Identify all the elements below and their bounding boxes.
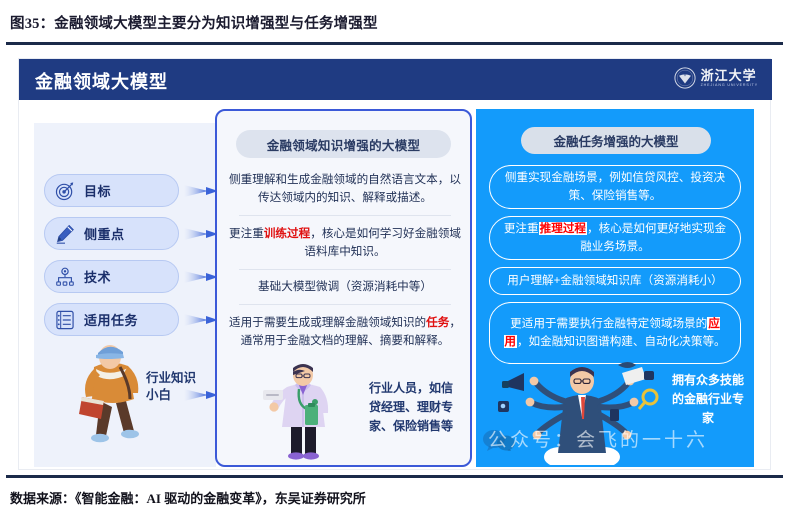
knowledge-row-technology-text: 基础大模型微调（资源消耗中等）: [258, 280, 432, 293]
zju-seal-icon: [674, 67, 696, 89]
task-row-tasks: 更适用于需要执行金融特定领域场景的应用，如金融知识图谱构建、自动化决策等。: [489, 302, 741, 364]
pencil-icon: [54, 223, 76, 245]
checklist-icon: [54, 309, 76, 331]
task-row-tasks-suffix: ，如金融知识图谱构建、自动化决策等。: [517, 335, 726, 348]
task-row-technology: 用户理解+金融领域知识库（资源消耗小）: [489, 267, 741, 295]
top-rule: [6, 42, 783, 45]
category-pill-technology[interactable]: 技术: [44, 260, 179, 293]
knowledge-row-focus-prefix: 更注重: [229, 227, 264, 240]
category-pill-target[interactable]: 目标: [44, 174, 179, 207]
category-pill-label: 适用任务: [84, 310, 138, 329]
knowledge-row-technology: 基础大模型微调（资源消耗中等）: [229, 278, 461, 296]
knowledge-row-goal: 侧重理解和生成金融领域的自然语言文本，以传达领域内的知识、解释或描述。: [229, 171, 461, 207]
knowledge-row-focus-highlight: 训练过程: [264, 227, 310, 240]
knowledge-panel-title: 金融领域知识增强的大模型: [267, 135, 421, 154]
knowledge-row-focus: 更注重训练过程，核心是如何学习好金融领域语料库中知识。: [229, 225, 461, 261]
middle-persona-caption: 行业人员，如信贷经理、理财专家、保险销售等: [369, 379, 455, 436]
wechat-icon: [482, 429, 516, 451]
knowledge-row-tasks-highlight: 任务: [426, 316, 449, 329]
task-row-goal: 侧重实现金融场景，例如信贷风控、投资决策、保险销售等。: [489, 165, 741, 209]
divider: [239, 269, 451, 270]
target-icon: [54, 180, 76, 202]
network-icon: [54, 266, 76, 288]
figure-page: 图35：金融领域大模型主要分为知识增强型与任务增强型 金融领域大模型 浙江大学 …: [0, 0, 789, 518]
knowledge-row-focus-suffix: ，核心是如何学习好金融领域语料库中知识。: [304, 227, 461, 258]
task-row-focus-highlight: 推理过程: [539, 222, 587, 235]
category-pill-label: 技术: [84, 267, 111, 286]
knowledge-row-tasks-prefix: 适用于需要生成或理解金融领域知识的: [229, 316, 426, 329]
right-persona-caption: 拥有众多技能的金融行业专家: [672, 371, 744, 428]
left-category-panel: 目标 侧重点: [34, 123, 216, 467]
zju-logo: 浙江大学 ZHEJIANG UNIVERSITY: [674, 67, 758, 89]
knowledge-enhanced-panel: 金融领域知识增强的大模型 侧重理解和生成金融领域的自然语言文本，以传达领域内的知…: [215, 109, 472, 467]
knowledge-row-goal-text: 侧重理解和生成金融领域的自然语言文本，以传达领域内的知识、解释或描述。: [229, 173, 461, 204]
professional-person-illustration: [243, 361, 363, 461]
task-row-tasks-prefix: 更适用于需要执行金融特定领域场景的: [510, 317, 707, 330]
bottom-rule: [6, 475, 783, 478]
task-row-technology-text: 用户理解+金融领域知识库（资源消耗小）: [507, 272, 722, 290]
task-panel-title: 金融任务增强的大模型: [553, 131, 678, 150]
task-row-goal-text: 侧重实现金融场景，例如信贷风控、投资决策、保险销售等。: [500, 169, 730, 205]
left-persona-caption: 行业知识小白: [146, 370, 198, 404]
zju-name-en: ZHEJIANG UNIVERSITY: [701, 84, 758, 88]
divider: [239, 215, 451, 216]
multitasking-expert-illustration: [490, 357, 668, 465]
zju-wordmark: 浙江大学 ZHEJIANG UNIVERSITY: [701, 69, 758, 88]
slide-card: 金融领域大模型 浙江大学 ZHEJIANG UNIVERSITY: [18, 58, 771, 470]
panels-row: 目标 侧重点: [19, 100, 772, 471]
figure-title: 图35：金融领域大模型主要分为知识增强型与任务增强型: [10, 12, 378, 33]
category-pill-label: 目标: [84, 181, 111, 200]
category-pill-list: 目标 侧重点: [44, 174, 179, 346]
category-pill-tasks[interactable]: 适用任务: [44, 303, 179, 336]
category-pill-focus[interactable]: 侧重点: [44, 217, 179, 250]
divider: [239, 304, 451, 305]
slide-header: 金融领域大模型 浙江大学 ZHEJIANG UNIVERSITY: [19, 59, 772, 100]
zju-name-cn: 浙江大学: [701, 69, 758, 82]
task-enhanced-panel: 金融任务增强的大模型 侧重实现金融场景，例如信贷风控、投资决策、保险销售等。 更…: [476, 109, 754, 467]
figure-source: 数据来源：《智能金融：AI 驱动的金融变革》，东吴证券研究所: [10, 488, 366, 507]
knowledge-panel-title-chip: 金融领域知识增强的大模型: [236, 130, 451, 158]
task-row-focus-prefix: 更注重: [504, 222, 539, 235]
task-row-focus: 更注重推理过程，核心是如何更好地实现金融业务场景。: [489, 216, 741, 260]
knowledge-row-tasks: 适用于需要生成或理解金融领域知识的任务，通常用于金融文档的理解、摘要和解释。: [229, 314, 461, 350]
task-panel-title-chip: 金融任务增强的大模型: [521, 127, 711, 154]
category-pill-label: 侧重点: [84, 224, 125, 243]
task-row-focus-suffix: ，核心是如何更好地实现金融业务场景。: [580, 222, 726, 253]
slide-header-title: 金融领域大模型: [35, 68, 168, 94]
